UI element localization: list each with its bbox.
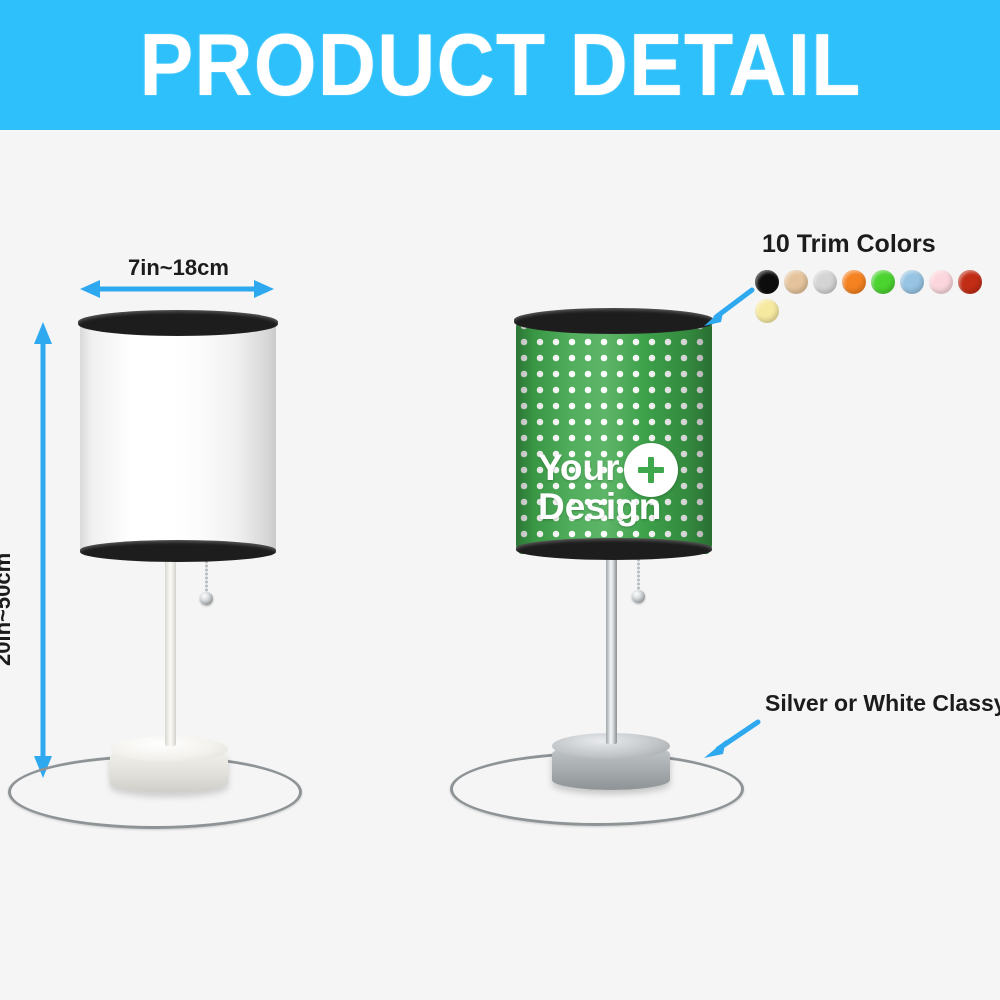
header-banner: PRODUCT DETAIL: [0, 0, 1000, 130]
swatch-black[interactable]: [755, 270, 779, 294]
pull-chain-ball[interactable]: [200, 592, 213, 605]
shade-trim-top: [514, 308, 714, 334]
swatch-dark-red[interactable]: [958, 270, 982, 294]
base-finish-label: Silver or White Classy: [765, 690, 1000, 717]
height-measurement-label: 20in~50cm: [0, 553, 16, 666]
swatch-tan[interactable]: [784, 270, 808, 294]
design-placeholder-text: Your Design: [538, 448, 708, 526]
width-dimension-arrow: [80, 278, 274, 300]
shade-trim-bottom: [80, 540, 276, 562]
base-finish-pointer-arrow: [700, 718, 762, 760]
swatch-light-blue[interactable]: [900, 270, 924, 294]
shade-trim-top: [78, 310, 278, 336]
page-title: PRODUCT DETAIL: [139, 21, 861, 109]
lamp-pole: [606, 554, 617, 744]
trim-colors-pointer-arrow: [700, 286, 756, 328]
swatch-orange[interactable]: [842, 270, 866, 294]
lampshade: [80, 318, 276, 556]
lampshade-surface: [80, 318, 276, 556]
product-detail-page: PRODUCT DETAIL 7in~18cm 20in~50cm: [0, 0, 1000, 1000]
shade-trim-bottom: [516, 538, 712, 560]
swatch-green[interactable]: [871, 270, 895, 294]
trim-color-swatches[interactable]: [755, 270, 1000, 323]
lampshade: Your Design: [516, 318, 712, 554]
design-line-1: Your: [538, 448, 708, 487]
swatch-light-gray[interactable]: [813, 270, 837, 294]
pull-chain-ball[interactable]: [632, 590, 645, 603]
lamp-pole: [165, 556, 176, 746]
height-dimension-arrow: [32, 322, 54, 778]
design-line-2: Design: [538, 487, 708, 526]
trim-colors-title: 10 Trim Colors: [762, 230, 936, 259]
swatch-pink[interactable]: [929, 270, 953, 294]
swatch-pale-yellow[interactable]: [755, 299, 779, 323]
